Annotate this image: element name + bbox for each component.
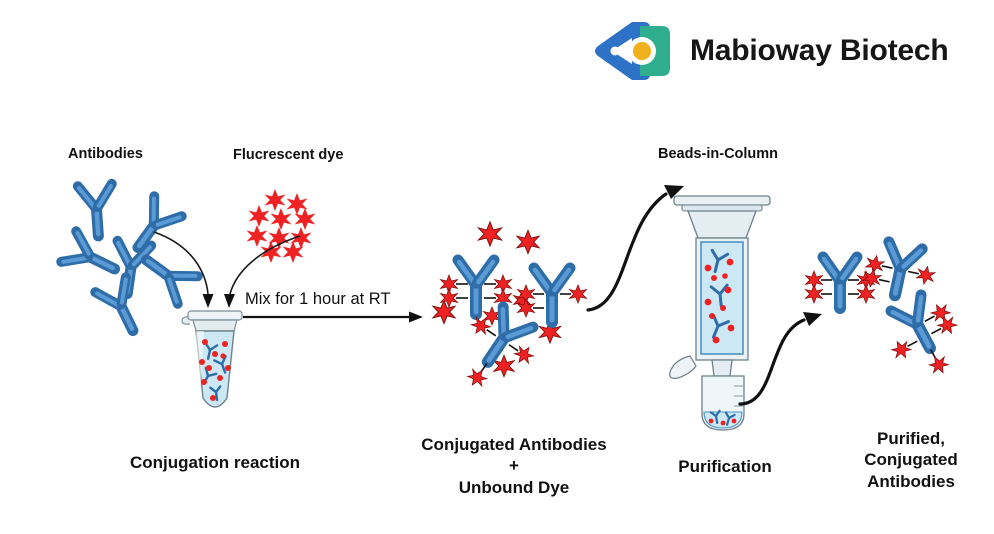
caption-purification: Purification [615,456,835,477]
brand-logo: Mabioway Biotech [592,18,949,84]
mix-step-arrow [243,312,425,326]
conjugated-and-unbound-mixture [432,220,608,396]
mix-step-label: Mix for 1 hour at RT [245,290,391,309]
label-fluorescent-dye: Flucrescent dye [233,147,343,163]
label-beads-in-column: Beads-in-Column [658,146,778,162]
caption-step2-line2: + [398,455,630,476]
purified-conjugated-antibodies [800,232,972,392]
caption-conjugation-reaction: Conjugation reaction [90,452,340,473]
conjugation-reaction-tube [178,306,252,424]
label-antibodies: Antibodies [68,146,143,162]
caption-step2: Conjugated Antibodies + Unbound Dye [398,434,630,498]
diagram-canvas: Mabioway Biotech Antibodies Flucrescent … [0,0,994,534]
caption-step2-line1: Conjugated Antibodies [398,434,630,455]
caption-step4-line2: Conjugated [828,449,994,470]
caption-step4-line3: Antibodies [828,471,994,492]
brand-wordmark: Mabioway Biotech [690,34,949,68]
caption-step4-line1: Purified, [828,428,994,449]
mabioway-chevron-circle-logo [592,18,676,84]
caption-step4: Purified, Conjugated Antibodies [828,428,994,492]
caption-step2-line3: Unbound Dye [398,477,630,498]
